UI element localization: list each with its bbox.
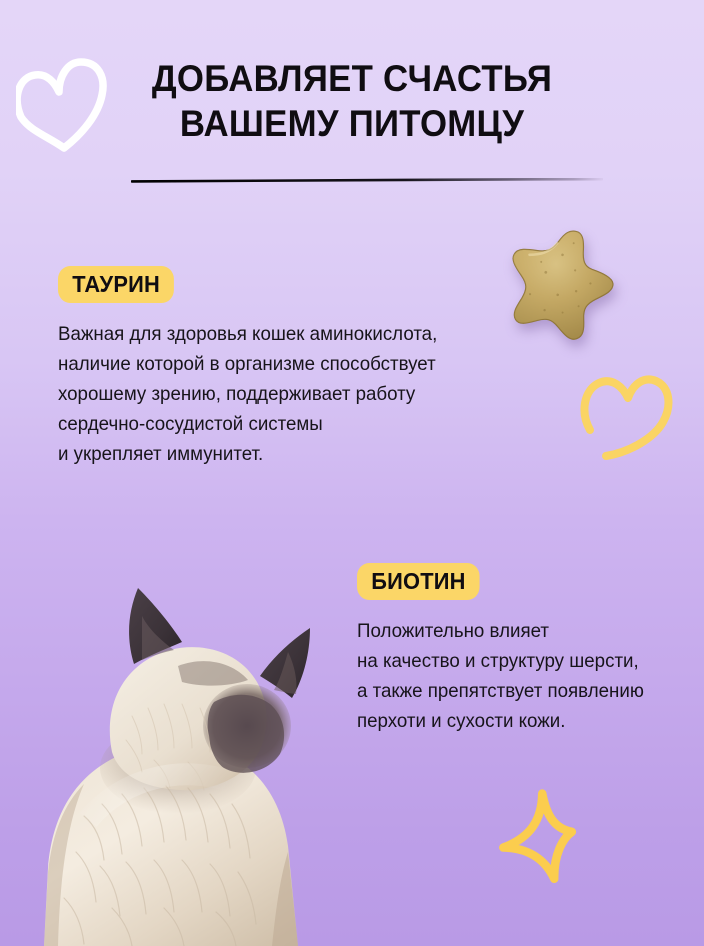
text-line: Важная для здоровья кошек аминокислота,	[58, 319, 461, 349]
badge-biotin: БИОТИН	[357, 563, 480, 600]
title-line-1: ДОБАВЛЯЕТ СЧАСТЬЯ	[21, 56, 683, 101]
text-line: и укрепляет иммунитет.	[58, 439, 461, 469]
text-line: наличие которой в организме способствует	[58, 349, 461, 379]
badge-taurin: ТАУРИН	[58, 266, 174, 303]
page-title: ДОБАВЛЯЕТ СЧАСТЬЯ ВАШЕМУ ПИТОМЦУ	[0, 56, 704, 146]
cat-photo	[0, 516, 362, 946]
promo-poster: ДОБАВЛЯЕТ СЧАСТЬЯ ВАШЕМУ ПИТОМЦУ ТАУРИН …	[0, 0, 704, 946]
heart-yellow-icon	[578, 368, 674, 468]
taurin-body: Важная для здоровья кошек аминокислота, …	[58, 319, 461, 469]
title-line-2: ВАШЕМУ ПИТОМЦУ	[21, 101, 683, 146]
biotin-body: Положительно влияет на качество и структ…	[357, 616, 674, 736]
text-line: перхоти и сухости кожи.	[357, 706, 674, 736]
text-line: на качество и структуру шерсти,	[357, 646, 674, 676]
siamese-cat-illustration	[0, 516, 362, 946]
text-line: сердечно-сосудистой системы	[58, 409, 461, 439]
section-taurin: ТАУРИН Важная для здоровья кошек аминоки…	[58, 266, 478, 469]
text-line: а также препятствует появлению	[357, 676, 674, 706]
text-line: Положительно влияет	[357, 616, 674, 646]
sparkle-icon	[474, 782, 582, 890]
gold-star-treat-icon	[504, 222, 624, 342]
divider	[131, 178, 603, 183]
text-line: хорошему зрению, поддерживает работу	[58, 379, 461, 409]
section-biotin: БИОТИН Положительно влияет на качество и…	[357, 563, 687, 736]
